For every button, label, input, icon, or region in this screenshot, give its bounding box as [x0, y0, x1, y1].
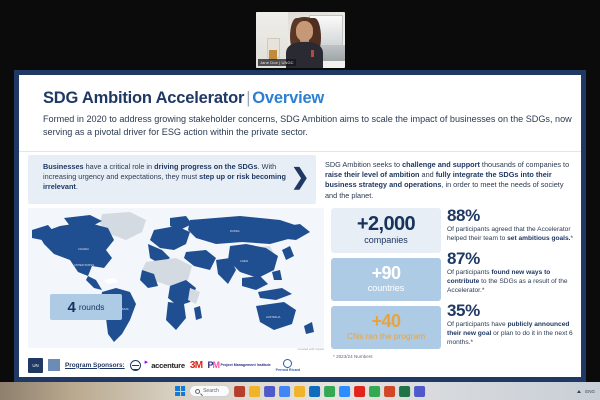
- slide-lede: Formed in 2020 to address growing stakeh…: [43, 113, 577, 138]
- powerpoint-icon[interactable]: [384, 386, 395, 397]
- statement-left-card: Businesses have a critical role in drivi…: [28, 155, 316, 204]
- svg-text:CANADA: CANADA: [78, 247, 89, 251]
- widgets-icon[interactable]: [234, 386, 245, 397]
- stat-card-countries: +90 countries: [331, 258, 441, 301]
- chrome-icon[interactable]: [279, 386, 290, 397]
- webcam-person-badge: [311, 50, 314, 57]
- percent-value: 35%: [447, 301, 579, 320]
- rounds-badge: 4 rounds: [50, 294, 122, 320]
- sponsor-pmi-text: Project Management Institute: [221, 363, 271, 367]
- sponsor-logo-3m: 3M: [190, 360, 203, 371]
- percent-stats-column: 88% Of participants agreed that the Acce…: [447, 206, 579, 353]
- sponsor-3m-text: 3M: [190, 360, 203, 371]
- search-icon: [195, 389, 200, 394]
- maps-icon[interactable]: [369, 386, 380, 397]
- percent-stat-item: 87% Of participants found new ways to co…: [447, 249, 579, 295]
- taskbar-app-icons: [234, 386, 425, 397]
- slide-title-main: SDG Ambition Accelerator: [43, 89, 244, 107]
- stat-cards-column: +2,000 companies +90 countries +40 CNs r…: [331, 208, 441, 359]
- show-hidden-icons-icon[interactable]: [577, 390, 581, 393]
- rounds-number: 4: [68, 299, 76, 316]
- ungc-badge: UN: [28, 358, 43, 373]
- search-placeholder: Search: [203, 388, 219, 394]
- excel-icon[interactable]: [399, 386, 410, 397]
- sponsor-logo-accenture: ▸ accenture: [146, 361, 185, 370]
- folder-icon[interactable]: [294, 386, 305, 397]
- sponsor-logo-un-global-compact: [130, 360, 141, 371]
- chevron-right-icon: ❯: [291, 166, 309, 188]
- teams-icon[interactable]: [264, 386, 275, 397]
- windows-taskbar[interactable]: Search ENG: [0, 382, 600, 400]
- stat-card-companies: +2,000 companies: [331, 208, 441, 253]
- sponsors-row: UN Program Sponsors: ▸ accenture 3M PM P…: [28, 353, 328, 377]
- stat-card-label: countries: [335, 283, 437, 294]
- adobe-icon[interactable]: [354, 386, 365, 397]
- svg-text:RUSSIA: RUSSIA: [230, 229, 240, 233]
- webcam-thumbnail[interactable]: Jane Doe | UNGC: [256, 12, 345, 68]
- world-map-svg: CANADA UNITED STATES BRAZIL RUSSIA CHINA…: [30, 210, 322, 346]
- taskbar-center-group: Search: [175, 385, 425, 397]
- slide-title-sub: Overview: [252, 89, 324, 107]
- world-map-panel: CANADA UNITED STATES BRAZIL RUSSIA CHINA…: [28, 208, 324, 348]
- created-note: Created with impact: [297, 347, 324, 351]
- divider: [19, 151, 581, 152]
- webcam-name-label: Jane Doe | UNGC: [258, 59, 296, 66]
- rounds-label: rounds: [79, 302, 105, 312]
- outlook-icon[interactable]: [309, 386, 320, 397]
- stat-card-cns: +40 CNs ran the program: [331, 306, 441, 349]
- teams-alt-icon[interactable]: [414, 386, 425, 397]
- stat-card-value: +2,000: [335, 214, 437, 234]
- zoom-icon[interactable]: [339, 386, 350, 397]
- statement-left-text: Businesses have a critical role in drivi…: [28, 155, 316, 193]
- stat-card-value: +40: [335, 312, 437, 330]
- screen-share-view: Jane Doe | UNGC SDG Ambition Accelerator…: [0, 0, 600, 400]
- chrome-alt-icon[interactable]: [324, 386, 335, 397]
- stat-card-label: companies: [335, 235, 437, 246]
- svg-text:UNITED STATES: UNITED STATES: [74, 263, 94, 267]
- percent-value: 88%: [447, 206, 579, 225]
- percent-description: Of participants have publicly announced …: [447, 320, 579, 347]
- stat-card-label: CNs ran the program: [335, 331, 437, 342]
- tray-language-indicator[interactable]: ENG: [585, 389, 595, 394]
- statement-band: Businesses have a critical role in drivi…: [19, 155, 581, 204]
- svg-text:AUSTRALIA: AUSTRALIA: [266, 315, 281, 319]
- presentation-slide: SDG Ambition Accelerator|Overview Formed…: [19, 75, 581, 377]
- search-input[interactable]: Search: [189, 385, 230, 397]
- sponsor-logo-pmi: PM Project Management Institute: [208, 361, 271, 370]
- file-explorer-icon[interactable]: [249, 386, 260, 397]
- statement-right-text: SDG Ambition seeks to challenge and supp…: [321, 155, 579, 201]
- statement-right-card: SDG Ambition seeks to challenge and supp…: [321, 155, 579, 201]
- svg-text:CHINA: CHINA: [240, 259, 248, 263]
- percent-description: Of participants found new ways to contri…: [447, 268, 579, 295]
- pernod-ricard-ring-icon: [283, 359, 292, 368]
- sponsors-label: Program Sponsors:: [65, 362, 125, 369]
- start-button-icon[interactable]: [175, 386, 185, 396]
- globe-icon: [130, 360, 141, 371]
- sponsor-pernod-ricard-text: Pernod Ricard: [276, 368, 301, 372]
- percent-stat-item: 88% Of participants agreed that the Acce…: [447, 206, 579, 243]
- accenture-arrow-icon: ▸: [145, 358, 149, 366]
- percent-value: 87%: [447, 249, 579, 268]
- percent-description: Of participants agreed that the Accelera…: [447, 225, 579, 243]
- presentation-slide-frame: SDG Ambition Accelerator|Overview Formed…: [14, 70, 586, 382]
- ungc-square-icon: [48, 359, 60, 371]
- stat-card-value: +90: [335, 264, 437, 282]
- footnote: * 2023/24 Numbers: [331, 354, 441, 359]
- pmi-mark-icon: PM: [208, 361, 220, 370]
- sponsor-accenture-text: accenture: [151, 361, 185, 370]
- percent-stat-item: 35% Of participants have publicly announ…: [447, 301, 579, 347]
- system-tray[interactable]: ENG: [577, 389, 595, 394]
- webcam-person-head: [296, 21, 313, 41]
- sponsor-logo-pernod-ricard: Pernod Ricard: [276, 359, 301, 372]
- page-title: SDG Ambition Accelerator|Overview: [43, 89, 324, 108]
